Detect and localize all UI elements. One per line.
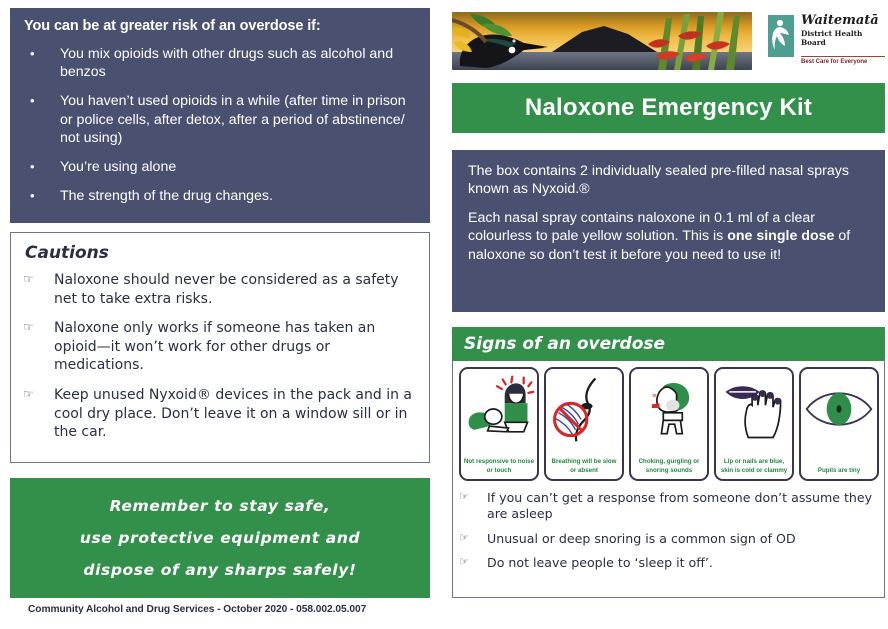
pictogram-caption: Pupils are tiny xyxy=(803,467,875,475)
tiny-pupil-eye-icon xyxy=(801,373,877,445)
remember-safety-panel: Remember to stay safe, use protective eq… xyxy=(10,478,430,598)
pictogram-pupils: Pupils are tiny xyxy=(799,367,879,481)
choking-person-icon: ≋ xyxy=(631,373,707,445)
sign-item-text: If you can’t get a response from someone… xyxy=(487,490,874,523)
cautions-panel: Cautions ☞ Naloxone should never be cons… xyxy=(10,232,430,463)
pointing-hand-icon: ☞ xyxy=(459,531,487,547)
caution-item-text: Keep unused Nyxoid® devices in the pack … xyxy=(54,386,419,442)
cautions-title: Cautions xyxy=(25,243,419,263)
pointing-hand-icon: ☞ xyxy=(23,386,54,442)
bullet-dot-icon: • xyxy=(22,92,60,147)
pictogram-row: Not responsive to noise or touch Breathi… xyxy=(453,361,884,481)
caution-list-item: ☞ Naloxone only works if someone has tak… xyxy=(23,319,419,375)
signs-title-text: Signs of an overdose xyxy=(464,334,665,354)
kit-title-bar: Naloxone Emergency Kit xyxy=(452,83,885,133)
pictogram-caption: Lip or nails are blue, skin is cold or c… xyxy=(718,458,790,475)
pointing-hand-icon: ☞ xyxy=(23,271,54,308)
pictogram-unresponsive: Not responsive to noise or touch xyxy=(459,367,539,481)
signs-of-overdose-panel: Not responsive to noise or touch Breathi… xyxy=(452,361,885,598)
pictogram-caption: Choking, gurgling or snoring sounds xyxy=(633,458,705,475)
risk-item-text: You haven’t used opioids in a while (aft… xyxy=(60,92,418,147)
risk-list-item: • The strength of the drug changes. xyxy=(22,187,418,205)
remember-line-3: dispose of any sharps safely! xyxy=(83,561,356,579)
pointing-hand-icon: ☞ xyxy=(459,555,487,571)
waitemata-dhb-logo: Waitematā District Health Board Best Car… xyxy=(768,14,885,68)
logo-figure-icon xyxy=(768,15,794,57)
pictogram-choking: ≋ Choking, gurgling or snoring sounds xyxy=(629,367,709,481)
unresponsive-person-icon xyxy=(461,373,537,445)
pictogram-caption: Not responsive to noise or touch xyxy=(463,458,535,475)
contents-paragraph-1: The box contains 2 individually sealed p… xyxy=(468,162,869,199)
risk-panel-title: You can be at greater risk of an overdos… xyxy=(24,18,418,34)
kit-title-text: Naloxone Emergency Kit xyxy=(525,94,812,122)
logo-name-text: Waitematā xyxy=(801,14,885,27)
sign-item-text: Unusual or deep snoring is a common sign… xyxy=(487,531,874,547)
footer-credit: Community Alcohol and Drug Services - Oc… xyxy=(28,604,448,615)
logo-subtitle-text: District Health Board xyxy=(801,29,885,47)
pointing-hand-icon: ☞ xyxy=(23,319,54,375)
bullet-dot-icon: • xyxy=(22,187,60,205)
risk-list-item: • You’re using alone xyxy=(22,158,418,176)
caution-list-item: ☞ Naloxone should never be considered as… xyxy=(23,271,419,308)
risk-list-item: • You mix opioids with other drugs such … xyxy=(22,45,418,81)
svg-text:≋: ≋ xyxy=(652,394,657,400)
sign-item-text: Do not leave people to ‘sleep it off’. xyxy=(487,555,874,571)
banner-artwork-icon xyxy=(452,12,752,70)
pictogram-caption: Breathing will be slow or absent xyxy=(548,458,620,475)
remember-line-1: Remember to stay safe, xyxy=(110,497,331,515)
signs-bullet-list: ☞ If you can’t get a response from someo… xyxy=(453,481,884,571)
pictogram-blue-lips: Lip or nails are blue, skin is cold or c… xyxy=(714,367,794,481)
risk-item-text: The strength of the drug changes. xyxy=(60,187,418,205)
tui-sunset-photo xyxy=(452,12,752,70)
signs-of-overdose-header: Signs of an overdose xyxy=(452,327,885,361)
pictogram-breathing: Breathing will be slow or absent xyxy=(544,367,624,481)
overdose-risk-panel: You can be at greater risk of an overdos… xyxy=(10,8,430,223)
risk-list-item: • You haven’t used opioids in a while (a… xyxy=(22,92,418,147)
logo-person-glyph-icon xyxy=(768,15,794,57)
logo-wordmark: Waitematā District Health Board Best Car… xyxy=(801,14,885,65)
sign-list-item: ☞ If you can’t get a response from someo… xyxy=(459,490,874,523)
sign-list-item: ☞ Unusual or deep snoring is a common si… xyxy=(459,531,874,547)
caution-list-item: ☞ Keep unused Nyxoid® devices in the pac… xyxy=(23,386,419,442)
bullet-dot-icon: • xyxy=(22,158,60,176)
caution-item-text: Naloxone should never be considered as a… xyxy=(54,271,419,308)
blue-lips-hand-icon xyxy=(716,373,792,445)
contents-paragraph-2: Each nasal spray contains naloxone in 0.… xyxy=(468,209,869,264)
header-banner: Waitematā District Health Board Best Car… xyxy=(452,12,885,72)
caution-item-text: Naloxone only works if someone has taken… xyxy=(54,319,419,375)
risk-item-text: You’re using alone xyxy=(60,158,418,176)
pointing-hand-icon: ☞ xyxy=(459,490,487,523)
risk-item-text: You mix opioids with other drugs such as… xyxy=(60,45,418,81)
contents-p2-bold: one single dose xyxy=(727,228,834,244)
sign-list-item: ☞ Do not leave people to ‘sleep it off’. xyxy=(459,555,874,571)
no-breathing-icon xyxy=(546,373,622,445)
logo-tagline-text: Best Care for Everyone xyxy=(801,56,885,65)
remember-line-2: use protective equipment and xyxy=(80,529,360,547)
bullet-dot-icon: • xyxy=(22,45,60,81)
box-contents-panel: The box contains 2 individually sealed p… xyxy=(452,150,885,312)
